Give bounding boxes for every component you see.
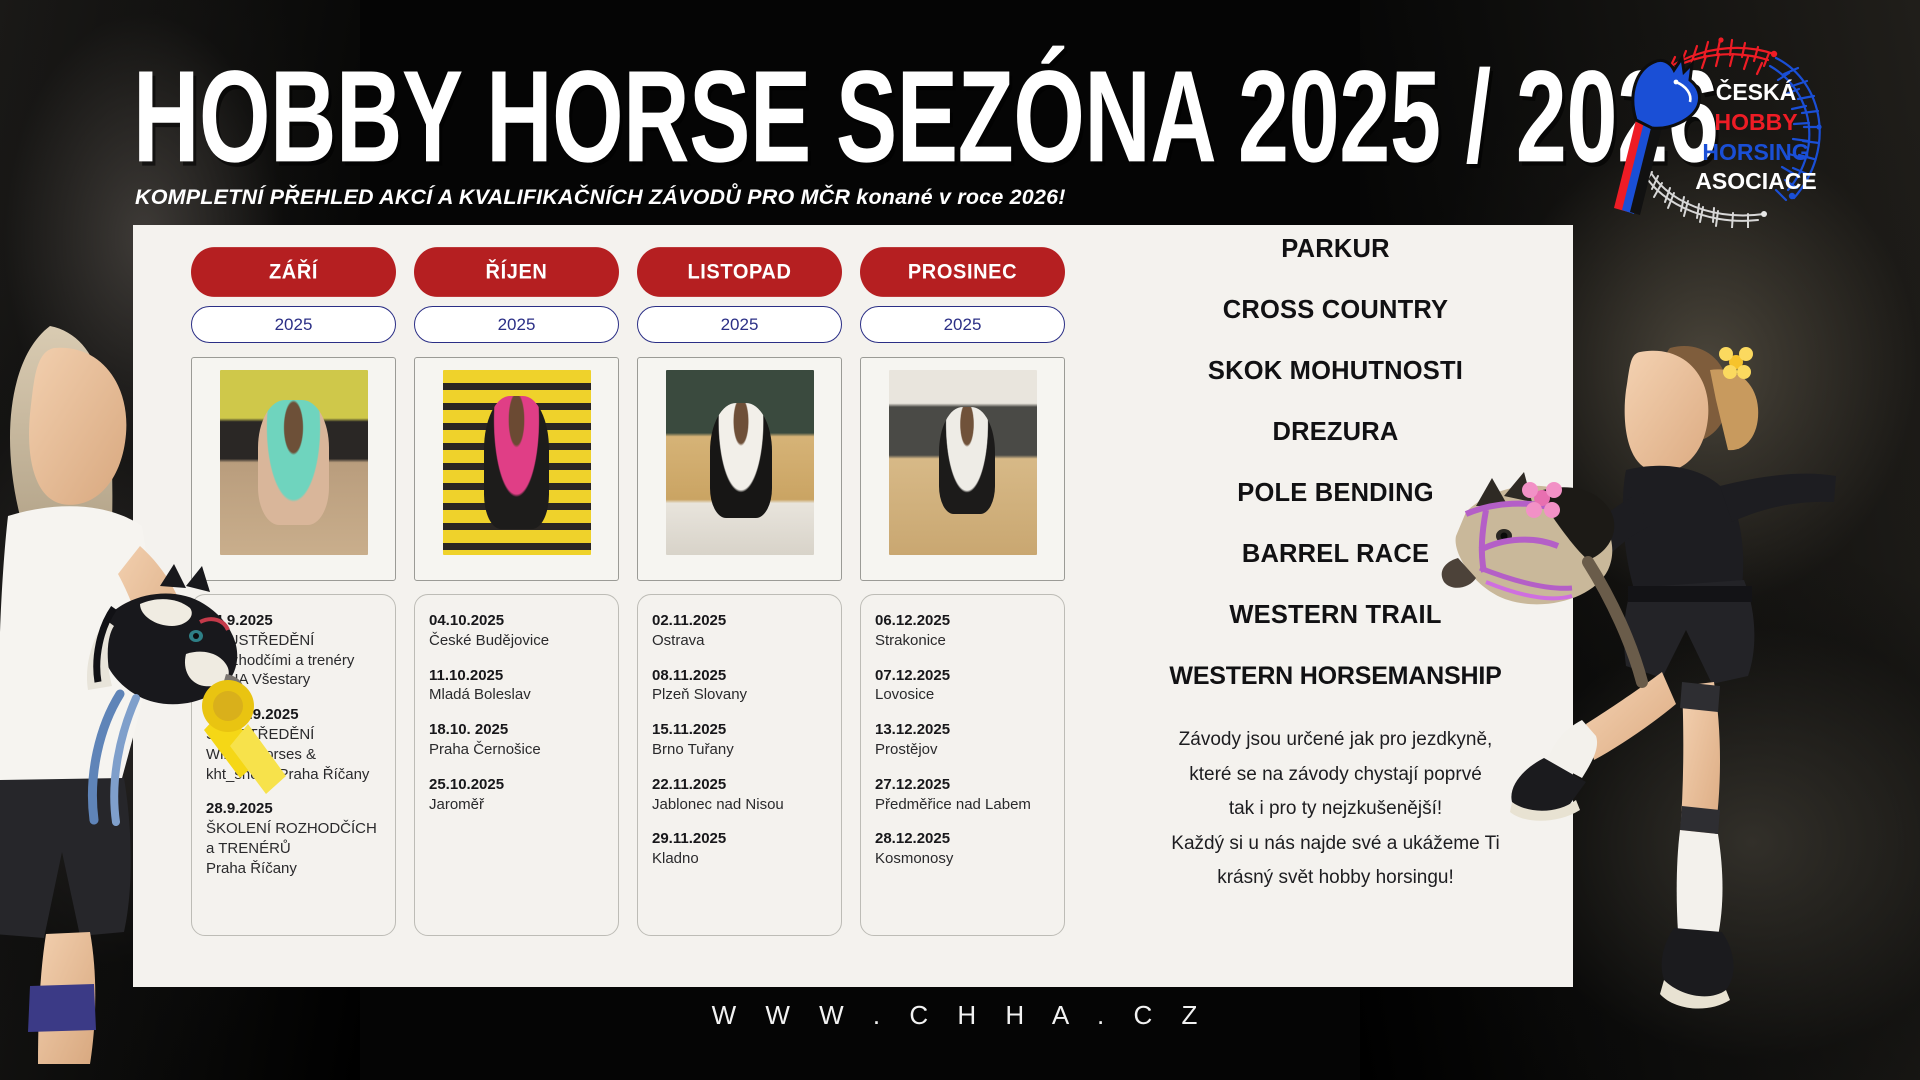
- photo-card-listopad: [637, 357, 842, 581]
- chha-logo: ČESKÁ HOBBY HORSING ASOCIACE: [1578, 28, 1870, 228]
- logo-line-1: ČESKÁ: [1716, 78, 1797, 105]
- list-item: 27.-28.9.2025 SOUSTŘEDĚNÍ Windnahorses &…: [206, 705, 381, 784]
- list-item: 13.12.2025 Prostějov: [875, 720, 1050, 760]
- month-column-rijen: ŘÍJEN 2025 04.10.2025 České Budějovice 1…: [414, 249, 619, 936]
- discipline-drezura: DREZURA: [1108, 418, 1563, 447]
- event-place: Jablonec nad Nisou: [652, 795, 827, 815]
- list-item: 25.10.2025 Jaroměř: [429, 775, 604, 815]
- event-place: SOUSTŘEDĚNÍ Windnahorses & kht_shetty Pr…: [206, 725, 381, 784]
- year-pill-listopad[interactable]: 2025: [637, 306, 842, 343]
- discipline-skok-mohutnosti: SKOK MOHUTNOSTI: [1108, 357, 1563, 386]
- list-item: 28.12.2025 Kosmonosy: [875, 829, 1050, 869]
- list-item: 06.12.2025 Strakonice: [875, 611, 1050, 651]
- list-item: 18.10. 2025 Praha Černošice: [429, 720, 604, 760]
- month-pill-zari[interactable]: ZÁŘÍ: [191, 247, 396, 297]
- calendar-grid: ZÁŘÍ 2025 14.9.2025 SOUSTŘEDĚNÍ s rozhod…: [191, 249, 1086, 936]
- event-date: 14.9.2025: [206, 611, 381, 631]
- competitor-photo-prosinec: [889, 370, 1037, 555]
- info-blurb: Závody jsou určené jak pro jezdkyně, kte…: [1108, 723, 1563, 896]
- list-item: 28.9.2025 ŠKOLENÍ ROZHODČÍCH a TRENÉRŮ P…: [206, 799, 381, 878]
- event-date: 06.12.2025: [875, 611, 1050, 631]
- page-title: HOBBY HORSE SEZÓNA 2025 / 2026: [133, 52, 1718, 183]
- event-place: Kosmonosy: [875, 849, 1050, 869]
- discipline-western-horsemanship: WESTERN HORSEMANSHIP: [1108, 662, 1563, 691]
- event-place: Lovosice: [875, 685, 1050, 705]
- logo-line-4: ASOCIACE: [1695, 168, 1816, 194]
- list-item: 29.11.2025 Kladno: [652, 829, 827, 869]
- poster-root: HOBBY HORSE SEZÓNA 2025 / 2026 KOMPLETNÍ…: [0, 0, 1920, 1080]
- event-place: Praha Černošice: [429, 740, 604, 760]
- website-url[interactable]: W W W . C H H A . C Z: [712, 1000, 1209, 1031]
- event-date: 25.10.2025: [429, 775, 604, 795]
- event-date: 15.11.2025: [652, 720, 827, 740]
- content-panel: ZÁŘÍ 2025 14.9.2025 SOUSTŘEDĚNÍ s rozhod…: [133, 225, 1573, 987]
- year-pill-prosinec[interactable]: 2025: [860, 306, 1065, 343]
- events-card-listopad: 02.11.2025 Ostrava 08.11.2025 Plzeň Slov…: [637, 594, 842, 936]
- event-date: 22.11.2025: [652, 775, 827, 795]
- event-date: 08.11.2025: [652, 666, 827, 686]
- logo-line-2: HOBBY: [1714, 109, 1797, 135]
- event-place: Jaroměř: [429, 795, 604, 815]
- event-place: Ostrava: [652, 631, 827, 651]
- event-place: Brno Tuřany: [652, 740, 827, 760]
- list-item: 04.10.2025 České Budějovice: [429, 611, 604, 651]
- competitor-photo-zari: [220, 370, 368, 555]
- footer: W W W . C H H A . C Z: [0, 1000, 1920, 1031]
- list-item: 08.11.2025 Plzeň Slovany: [652, 666, 827, 706]
- event-date: 29.11.2025: [652, 829, 827, 849]
- event-place: Kladno: [652, 849, 827, 869]
- event-place: Plzeň Slovany: [652, 685, 827, 705]
- year-pill-rijen[interactable]: 2025: [414, 306, 619, 343]
- event-place: Prostějov: [875, 740, 1050, 760]
- list-item: 15.11.2025 Brno Tuřany: [652, 720, 827, 760]
- month-pill-prosinec[interactable]: PROSINEC: [860, 247, 1065, 297]
- event-date: 04.10.2025: [429, 611, 604, 631]
- discipline-pole-bending: POLE BENDING: [1108, 479, 1563, 508]
- year-pill-zari[interactable]: 2025: [191, 306, 396, 343]
- month-column-prosinec: PROSINEC 2025 06.12.2025 Strakonice 07.1…: [860, 249, 1065, 936]
- event-place: ŠKOLENÍ ROZHODČÍCH a TRENÉRŮ Praha Říčan…: [206, 819, 381, 878]
- page-subtitle: KOMPLETNÍ PŘEHLED AKCÍ A KVALIFIKAČNÍCH …: [135, 185, 1066, 210]
- list-item: 07.12.2025 Lovosice: [875, 666, 1050, 706]
- list-item: 22.11.2025 Jablonec nad Nisou: [652, 775, 827, 815]
- month-pill-listopad[interactable]: LISTOPAD: [637, 247, 842, 297]
- event-date: 13.12.2025: [875, 720, 1050, 740]
- event-date: 02.11.2025: [652, 611, 827, 631]
- events-card-rijen: 04.10.2025 České Budějovice 11.10.2025 M…: [414, 594, 619, 936]
- event-date: 11.10.2025: [429, 666, 604, 686]
- event-date: 28.12.2025: [875, 829, 1050, 849]
- list-item: 14.9.2025 SOUSTŘEDĚNÍ s rozhodčími a tre…: [206, 611, 381, 690]
- event-place: SOUSTŘEDĚNÍ s rozhodčími a trenéry ČHHA …: [206, 631, 381, 690]
- event-place: České Budějovice: [429, 631, 604, 651]
- events-card-prosinec: 06.12.2025 Strakonice 07.12.2025 Lovosic…: [860, 594, 1065, 936]
- month-pill-rijen[interactable]: ŘÍJEN: [414, 247, 619, 297]
- list-item: 02.11.2025 Ostrava: [652, 611, 827, 651]
- competitor-photo-rijen: [443, 370, 591, 555]
- discipline-parkur: PARKUR: [1108, 235, 1563, 264]
- event-place: Předměřice nad Labem: [875, 795, 1050, 815]
- event-place: Strakonice: [875, 631, 1050, 651]
- event-date: 18.10. 2025: [429, 720, 604, 740]
- events-card-zari: 14.9.2025 SOUSTŘEDĚNÍ s rozhodčími a tre…: [191, 594, 396, 936]
- event-place: Mladá Boleslav: [429, 685, 604, 705]
- list-item: 27.12.2025 Předměřice nad Labem: [875, 775, 1050, 815]
- month-column-listopad: LISTOPAD 2025 02.11.2025 Ostrava 08.11.2…: [637, 249, 842, 936]
- competitor-photo-listopad: [666, 370, 814, 555]
- disciplines-list: PARKUR CROSS COUNTRY SKOK MOHUTNOSTI DRE…: [1108, 235, 1563, 896]
- event-date: 07.12.2025: [875, 666, 1050, 686]
- month-column-zari: ZÁŘÍ 2025 14.9.2025 SOUSTŘEDĚNÍ s rozhod…: [191, 249, 396, 936]
- discipline-cross-country: CROSS COUNTRY: [1108, 296, 1563, 325]
- logo-line-3: HORSING: [1702, 139, 1809, 165]
- discipline-barrel-race: BARREL RACE: [1108, 540, 1563, 569]
- photo-card-zari: [191, 357, 396, 581]
- event-date: 27.-28.9.2025: [206, 705, 381, 725]
- event-date: 28.9.2025: [206, 799, 381, 819]
- discipline-western-trail: WESTERN TRAIL: [1108, 601, 1563, 630]
- photo-card-prosinec: [860, 357, 1065, 581]
- list-item: 11.10.2025 Mladá Boleslav: [429, 666, 604, 706]
- event-date: 27.12.2025: [875, 775, 1050, 795]
- photo-card-rijen: [414, 357, 619, 581]
